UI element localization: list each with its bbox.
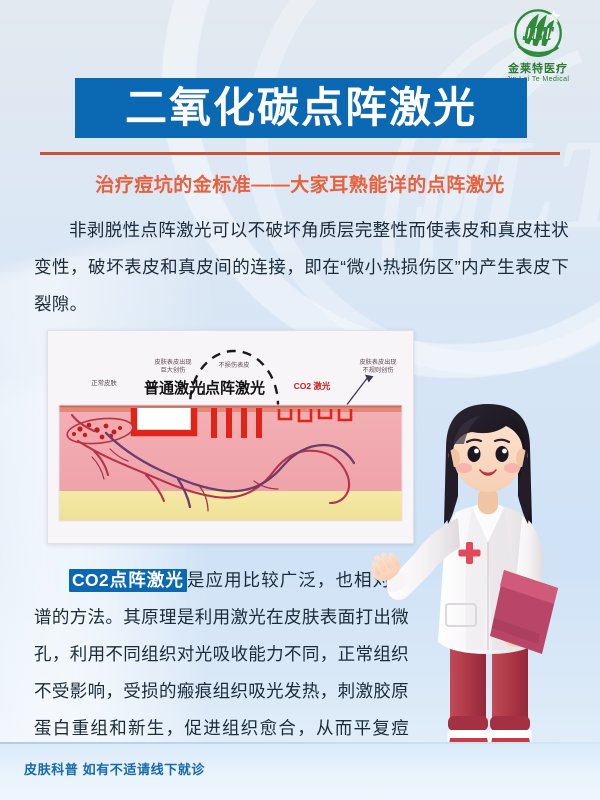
svg-text:CO2 激光: CO2 激光 [294, 381, 331, 391]
svg-text:不规则创伤: 不规则创伤 [363, 366, 394, 374]
co2-highlight-label: CO2点阵激光 [69, 569, 187, 592]
footer-disclaimer: 皮肤科普 如有不适请线下就诊 [24, 759, 205, 778]
svg-text:普通激光: 普通激光 [144, 379, 204, 397]
female-doctor-illustration [372, 392, 600, 777]
title-divider [40, 152, 560, 155]
logo-text-cn: 金莱特医疗 [490, 63, 586, 75]
jlt-leaf-circle-logo-icon: JLT [510, 6, 566, 62]
svg-text:皮肤表皮出现: 皮肤表皮出现 [359, 358, 396, 366]
page-title: 二氧化碳点阵激光 [125, 86, 477, 130]
svg-text:不损伤表皮: 不损伤表皮 [219, 361, 250, 369]
page-subtitle: 治疗痘坑的金标准——大家耳熟能详的点阵激光 [0, 170, 600, 197]
page-title-banner: 二氧化碳点阵激光 [75, 78, 527, 138]
skin-cross-section-diagram: 皮肤表皮出现 巨大创伤 不损伤表皮 皮肤表皮出现 不规则创伤 正常皮肤 普通激光… [47, 330, 414, 544]
svg-text:JLT: JLT [522, 23, 554, 43]
infographic-page: JLT JLT 金莱特医疗 Jin Lai Te Medical 二氧化碳点阵激… [0, 0, 600, 800]
svg-text:正常皮肤: 正常皮肤 [91, 378, 117, 387]
svg-text:点阵激光: 点阵激光 [205, 379, 265, 397]
footer-divider [0, 742, 600, 744]
svg-text:巨大创伤: 巨大创伤 [161, 366, 186, 374]
intro-paragraph: 非剥脱性点阵激光可以不破坏角质层完整性而使表皮和真皮柱状变性，破坏表皮和真皮间的… [34, 212, 569, 323]
svg-text:皮肤表皮出现: 皮肤表皮出现 [154, 358, 191, 366]
brand-logo: JLT 金莱特医疗 Jin Lai Te Medical [490, 6, 586, 84]
